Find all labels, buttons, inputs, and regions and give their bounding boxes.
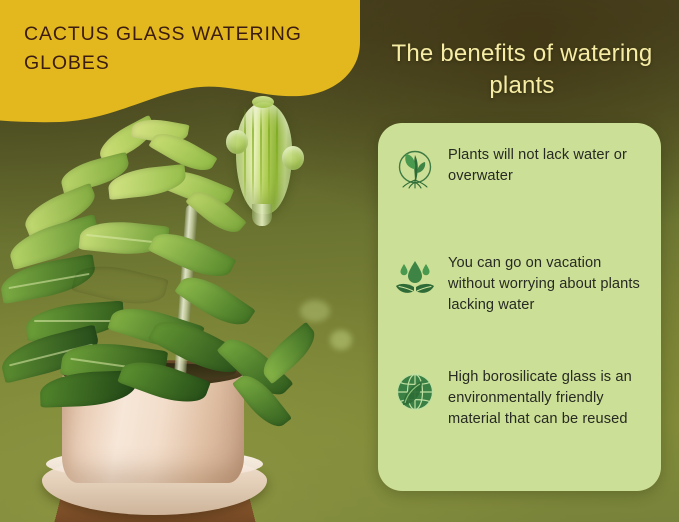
benefit-item: High borosilicate glass is an environmen… [392, 365, 650, 430]
benefits-card: Plants will not lack water or overwater … [378, 123, 661, 491]
bokeh-highlight [330, 330, 352, 350]
cactus-arm-left [226, 130, 248, 154]
plant-leaf [255, 322, 322, 384]
benefit-item: Plants will not lack water or overwater [392, 143, 650, 193]
benefit-item: You can go on vacation without worrying … [392, 251, 650, 316]
water-droplets-leaves-icon [392, 255, 438, 301]
cactus-globe-neck [252, 204, 272, 226]
bokeh-highlight [300, 300, 330, 322]
benefit-text: Plants will not lack water or overwater [448, 143, 650, 187]
leaf-vein [34, 320, 118, 322]
benefit-text: High borosilicate glass is an environmen… [448, 365, 650, 430]
sprout-in-circle-icon [392, 147, 438, 193]
cactus-arm-right [282, 146, 304, 170]
benefit-text: You can go on vacation without worrying … [448, 251, 650, 316]
benefits-heading: The benefits of watering plants [372, 38, 672, 102]
product-infographic: CACTUS GLASS WATERING GLOBES The benefit… [0, 0, 679, 522]
eco-globe-icon [392, 369, 438, 415]
page-title: CACTUS GLASS WATERING GLOBES [24, 20, 329, 78]
